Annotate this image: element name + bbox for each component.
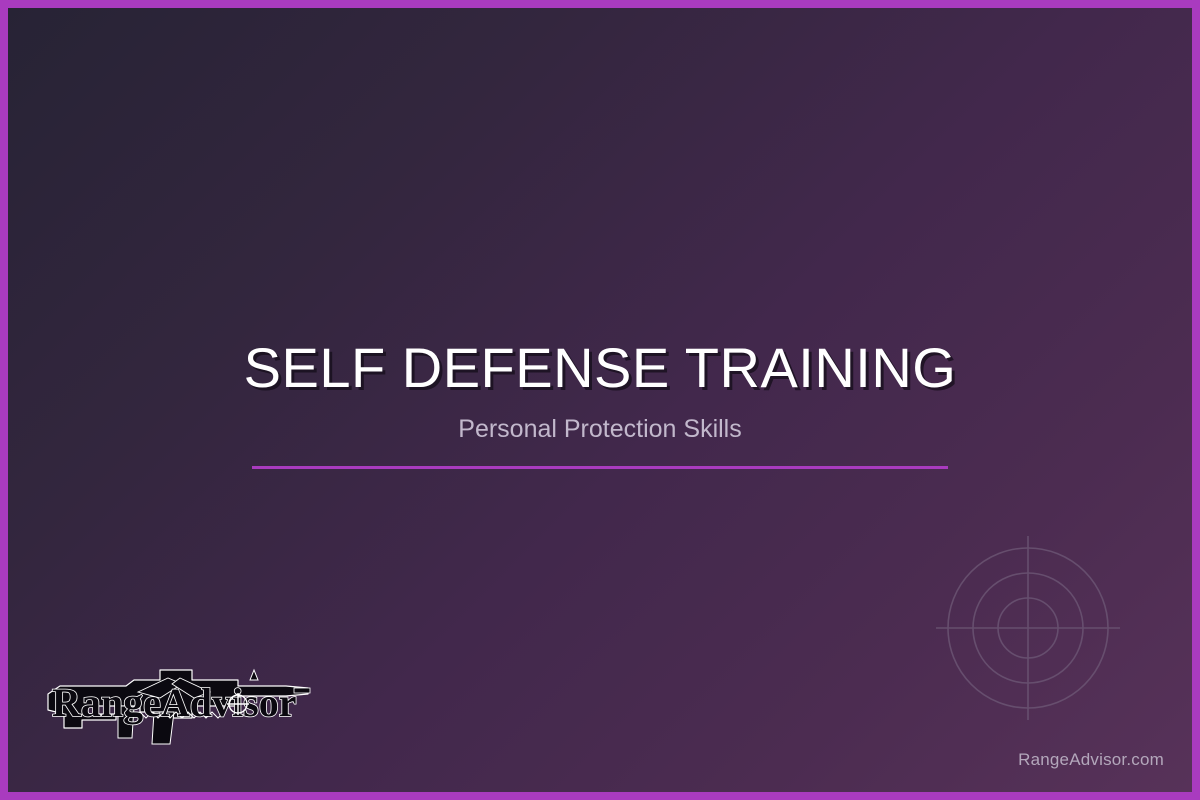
page-title: SELF DEFENSE TRAINING	[8, 338, 1192, 398]
brand-logo: RangeAdvisor	[42, 666, 314, 750]
presentation-slide: SELF DEFENSE TRAINING Personal Protectio…	[0, 0, 1200, 800]
brand-wordmark: RangeAdvisor	[52, 680, 296, 725]
title-divider-rule	[252, 466, 948, 469]
footer-watermark: RangeAdvisor.com	[1018, 750, 1164, 770]
target-crosshair-icon	[920, 520, 1136, 736]
page-subtitle: Personal Protection Skills	[8, 414, 1192, 444]
title-block: SELF DEFENSE TRAINING Personal Protectio…	[8, 338, 1192, 469]
